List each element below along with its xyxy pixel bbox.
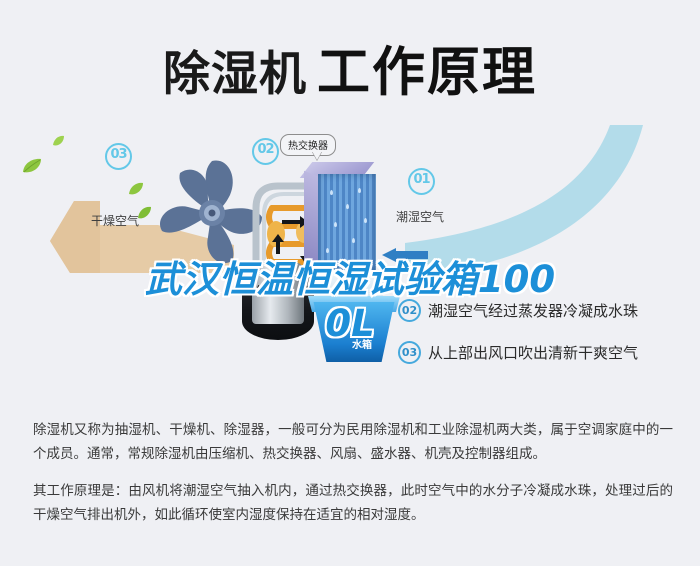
water-tank: 水箱 [300,288,410,370]
leaf-icon [22,158,42,174]
compressor-label: 压缩机 [246,282,276,297]
heat-exchanger-fins [318,174,376,270]
leaf-icon [52,135,65,147]
heat-exchanger-block [300,160,382,275]
heat-exchanger-callout: 热交换器 [280,134,336,156]
legend-label: 从上部出风口吹出清新干爽空气 [428,342,638,363]
leaf-icon [128,182,144,196]
marker-02: 02 [252,138,279,165]
title-part-1: 除湿机 [163,47,307,102]
legend-number: 02 [398,299,421,322]
callout-tail-icon [312,151,322,160]
body-paragraph-2: 其工作原理是：由风机将潮湿空气抽入机内，通过热交换器，此时空气中的水分子冷凝成水… [33,479,673,527]
dry-air-label: 干燥空气 [91,212,139,229]
page-root: 除湿机工作原理 [0,0,700,566]
legend-item: 03 从上部出风口吹出清新干爽空气 [398,341,638,364]
legend-item: 02 潮湿空气经过蒸发器冷凝成水珠 [398,299,638,322]
humid-air-label: 潮湿空气 [396,208,444,225]
marker-03: 03 [105,143,132,170]
marker-01: 01 [408,168,435,195]
body-paragraph-1: 除湿机又称为抽湿机、干燥机、除湿器，一般可分为民用除湿机和工业除湿机两大类，属于… [33,418,673,466]
legend-label: 潮湿空气经过蒸发器冷凝成水珠 [428,300,638,321]
humid-air-flow-band [395,125,645,275]
page-title: 除湿机工作原理 [0,30,700,106]
water-tank-label: 水箱 [352,336,372,351]
water-tank-body [308,302,400,362]
air-inflow-arrow-icon [382,248,428,262]
body-copy: 除湿机又称为抽湿机、干燥机、除湿器，一般可分为民用除湿机和工业除湿机两大类，属于… [33,418,673,527]
legend-list: 02 潮湿空气经过蒸发器冷凝成水珠 03 从上部出风口吹出清新干爽空气 [398,299,638,383]
title-part-2: 工作原理 [317,42,537,103]
legend-number: 03 [398,341,421,364]
